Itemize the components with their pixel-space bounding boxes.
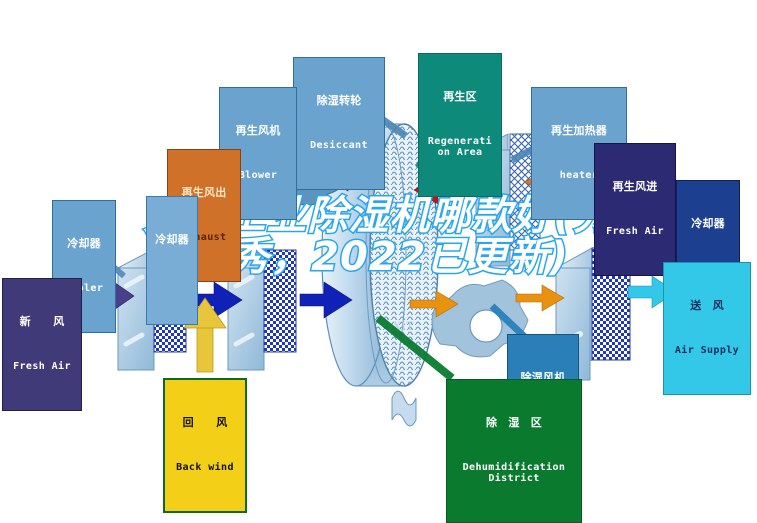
label-air-supply: 送 风 Air Supply bbox=[663, 262, 751, 395]
label-regen-blower-cn: 再生风机 bbox=[224, 125, 292, 137]
label-cooler-left-cn: 冷却器 bbox=[57, 238, 111, 250]
label-fresh-air-in-cn: 新 风 bbox=[7, 316, 77, 328]
label-regen-fresh-air-in-cn: 再生风进 bbox=[599, 181, 671, 193]
label-regen-heater-cn: 再生加热器 bbox=[536, 125, 622, 137]
label-desiccant-rotor-en: Desiccant bbox=[298, 141, 380, 152]
diagram-canvas: XIT bbox=[0, 0, 757, 488]
label-regen-area-cn: 再生区 bbox=[423, 91, 497, 103]
label-dehum-district-en: Dehumidification District bbox=[451, 463, 577, 485]
label-back-wind-en: Back wind bbox=[169, 463, 241, 474]
label-regen-area-en: Regenerati on Area bbox=[423, 137, 497, 159]
label-fresh-air-in-en: Fresh Air bbox=[7, 362, 77, 373]
label-air-supply-en: Air Supply bbox=[668, 346, 746, 357]
label-cooler-mid: 冷却器 bbox=[146, 196, 198, 325]
label-dehum-district-cn: 除 湿 区 bbox=[451, 417, 577, 429]
label-desiccant-rotor: 除湿转轮 Desiccant bbox=[293, 57, 385, 190]
label-cooler-mid-cn: 冷却器 bbox=[151, 234, 193, 246]
label-fresh-air-in: 新 风 Fresh Air bbox=[2, 278, 82, 411]
label-desiccant-rotor-cn: 除湿转轮 bbox=[298, 95, 380, 107]
label-regen-fresh-air-in: 再生风进 Fresh Air bbox=[594, 143, 676, 276]
label-regen-fresh-air-in-en: Fresh Air bbox=[599, 227, 671, 238]
label-back-wind-cn: 回 风 bbox=[169, 417, 241, 429]
label-air-supply-cn: 送 风 bbox=[668, 300, 746, 312]
label-dehum-district: 除 湿 区 Dehumidification District bbox=[446, 379, 582, 523]
label-cooler-right-cn: 冷却器 bbox=[681, 218, 735, 230]
label-regen-area: 再生区 Regenerati on Area bbox=[418, 53, 502, 197]
label-back-wind: 回 风 Back wind bbox=[163, 378, 247, 513]
